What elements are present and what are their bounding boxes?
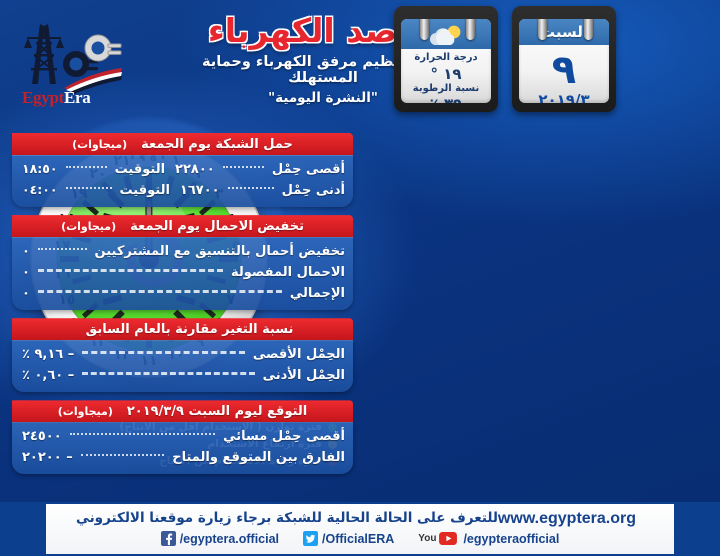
panel-body: أقصى حِمْل ٢٢٨٠٠ التوقيت ١٨:٥٠ أدنى حِمْ… [12,155,353,207]
leader-dots [38,247,87,250]
calendar-widget: السبت ٩ ٢٠١٩/٣ [512,6,616,112]
row-value: – ٩,١٦ ٪ [22,344,74,365]
data-row: الإجمالي ٠ [22,283,345,304]
panel-title: حمل الشبكة يوم الجمعة [141,137,293,152]
weather-spiral-binding-left [420,19,429,40]
row-value: ٠ [22,262,30,283]
weather-card-header [401,19,491,49]
row-value: ٢٢٨٠٠ [175,159,215,180]
footer: www.egyptera.orgللتعرف على الحالة الحالي… [0,502,720,554]
leader-dots [66,165,107,168]
row-value: ٢٤٥٠٠ [22,426,62,447]
panel-yoy-change: نسبة التغير مقارنة بالعام السابق الحِمْل… [12,318,353,392]
row-label: أقصى حِمْل [272,159,345,180]
egyptera-logo: EgyptEra [14,18,134,110]
twitter-handle: /OfficialERA [322,532,394,546]
row-label: الإجمالي [290,283,345,304]
row-label-secondary: التوقيت [115,159,165,180]
data-row: الفارق بين المتوقع والمتاح – ٢٠٢٠٠ [22,447,345,468]
row-value: ٠ [22,241,30,262]
panel-header: نسبة التغير مقارنة بالعام السابق [12,318,353,340]
row-value: ٠ [22,283,30,304]
row-label: أدنى حِمْل [282,180,345,201]
row-value: – ٢٠٢٠٠ [22,447,73,468]
facebook-link[interactable]: /egyptera.official [161,531,279,546]
panel-body: تخفيض أحمال بالتنسيق مع المشتركيين ٠ الا… [12,237,353,310]
calendar-day-name: السبت [519,19,609,45]
row-value: ١٦٧٠٠ [180,180,220,201]
youtube-handle: /egypteraofficial [463,532,559,546]
youtube-link[interactable]: You /egypteraofficial [418,532,559,546]
leader-dots [228,186,274,189]
panel-body: أقصى حِمْل مسائي ٢٤٥٠٠ الفارق بين المتوق… [12,422,353,474]
panel-unit: (ميجاوات) [58,405,113,418]
panel-network-load-friday: حمل الشبكة يوم الجمعة (ميجاوات) أقصى حِم… [12,133,353,207]
calendar-card: السبت ٩ ٢٠١٩/٣ [519,19,609,103]
data-row: أقصى حِمْل مسائي ٢٤٥٠٠ [22,426,345,447]
row-label: الفارق بين المتوقع والمتاح [172,447,345,468]
footer-message: للتعرف على الحالة الحالية للشبكة برجاء ز… [76,510,498,526]
panel-header: حمل الشبكة يوم الجمعة (ميجاوات) [12,133,353,155]
panel-saturday-forecast: التوقع ليوم السبت ٢٠١٩/٣/٩ (ميجاوات) أقص… [12,400,353,474]
row-label: أقصى حِمْل مسائي [223,426,345,447]
temperature-label: درجة الحرارة [405,52,487,65]
panel-load-shedding-friday: تخفيض الاحمال يوم الجمعة (ميجاوات) تخفيض… [12,215,353,310]
row-label: الحِمْل الأدنى [263,365,345,386]
panel-title: تخفيض الاحمال يوم الجمعة [130,219,304,234]
calendar-year-month: ٢٠١٩/٣ [519,91,609,103]
panel-unit: (ميجاوات) [61,220,116,233]
humidity-value: ٣٩ ٪ [405,95,487,103]
facebook-icon [161,531,176,546]
leader-dots [66,186,112,189]
weather-spiral-binding-right [466,19,475,40]
calendar-spiral-binding-right [584,19,593,40]
row-label: تخفيض أحمال بالتنسيق مع المشتركيين [95,241,345,262]
twitter-icon [303,531,318,546]
leader-dots [70,432,215,435]
leader-dots [82,371,254,375]
panel-title: نسبة التغير مقارنة بالعام السابق [86,322,294,337]
panel-header: التوقع ليوم السبت ٢٠١٩/٣/٩ (ميجاوات) [12,400,353,422]
leader-dots [38,289,282,293]
data-row: أدنى حِمْل ١٦٧٠٠ التوقيت ٠٤:٠٠ [22,180,345,201]
temperature-value: ١٩ ° [405,65,487,83]
row-value-secondary: ١٨:٥٠ [22,159,58,179]
leader-dots [223,165,264,168]
data-row: الحِمْل الأدنى – ٠,٦٠ ٪ [22,365,345,386]
leader-dots [82,350,245,354]
logo-word-era: Era [64,88,90,107]
weather-card: درجة الحرارة ١٩ ° نسبة الرطوبة ٣٩ ٪ [401,19,491,103]
data-row: تخفيض أحمال بالتنسيق مع المشتركيين ٠ [22,241,345,262]
row-value-secondary: ٠٤:٠٠ [22,180,58,200]
footer-text-line: www.egyptera.orgللتعرف على الحالة الحالي… [0,504,720,528]
calendar-day-number: ٩ [519,47,609,93]
data-row: أقصى حِمْل ٢٢٨٠٠ التوقيت ١٨:٥٠ [22,159,345,180]
data-panels: حمل الشبكة يوم الجمعة (ميجاوات) أقصى حِم… [12,133,353,482]
leader-dots [38,268,223,272]
leader-dots [81,453,165,456]
data-row: الحِمْل الأقصى – ٩,١٦ ٪ [22,344,345,365]
panel-title: التوقع ليوم السبت ٢٠١٩/٣/٩ [127,404,307,419]
facebook-handle: /egyptera.official [180,532,279,546]
youtube-icon [439,532,457,545]
website-link[interactable]: www.egyptera.org [498,510,636,528]
social-links: /egyptera.official /OfficialERA You /egy… [0,531,720,546]
panel-unit: (ميجاوات) [72,138,127,151]
row-value: – ٠,٦٠ ٪ [22,365,74,386]
twitter-link[interactable]: /OfficialERA [303,531,394,546]
weather-widget: درجة الحرارة ١٩ ° نسبة الرطوبة ٣٩ ٪ [394,6,498,112]
row-label: الاحمال المفصولة [231,262,345,283]
logo-word-egypt: Egypt [22,88,64,107]
sun-behind-cloud-icon [423,23,469,49]
data-row: الاحمال المفصولة ٠ [22,262,345,283]
logo-wordmark: EgyptEra [22,88,90,108]
poster-background: EgyptEra مرصد الكهرباء جهاز تنظيم مرفق ا… [0,0,720,554]
row-label-secondary: التوقيت [120,180,170,201]
calendar-spiral-binding-left [538,19,547,40]
youtube-wordmark: You [418,533,436,544]
row-label: الحِمْل الأقصى [253,344,345,365]
power-tower-plug-logo [14,18,134,98]
calendar-card-header: السبت [519,19,609,45]
panel-body: الحِمْل الأقصى – ٩,١٦ ٪ الحِمْل الأدنى –… [12,340,353,392]
humidity-label: نسبة الرطوبة [405,83,487,96]
panel-header: تخفيض الاحمال يوم الجمعة (ميجاوات) [12,215,353,237]
weather-body: درجة الحرارة ١٩ ° نسبة الرطوبة ٣٩ ٪ [401,49,491,103]
